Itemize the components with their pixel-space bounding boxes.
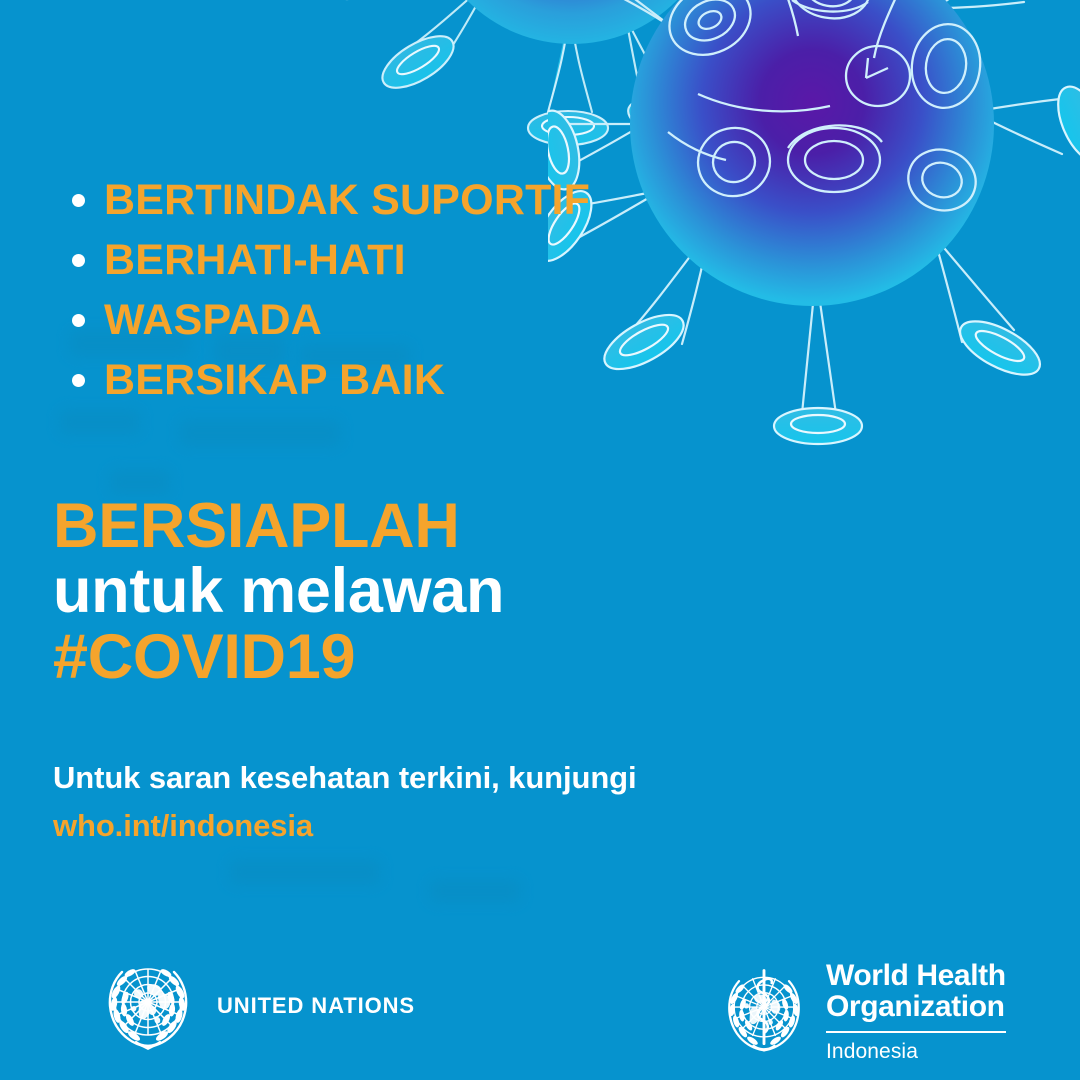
cta-url-link[interactable]: who.int/indonesia [53,806,637,846]
bullet-dot-icon [72,314,85,327]
bullet-dot-icon [72,194,85,207]
who-emblem-icon [714,957,814,1061]
united-nations-logo: UNITED NATIONS [96,954,415,1058]
headline-line-3: #COVID19 [53,626,504,688]
coronavirus-icon-main [548,0,1080,500]
list-item-label: WASPADA [104,299,322,342]
poster-canvas: BERTINDAK SUPORTIF BERHATI-HATI WASPADA … [0,0,1080,1080]
cta-lead-text: Untuk saran kesehatan terkini, kunjungi [53,758,637,798]
list-item-label: BERHATI-HATI [104,239,406,282]
headline-line-1: BERSIAPLAH [53,495,504,557]
united-nations-label: UNITED NATIONS [217,993,415,1019]
list-item: BERHATI-HATI [72,230,590,290]
bullet-dot-icon [72,374,85,387]
un-emblem-icon [96,954,200,1058]
watermark-blob [230,860,380,884]
watermark-blob [60,410,140,434]
who-divider [826,1031,1006,1033]
watermark-blob [180,420,340,446]
who-wordmark: World Health Organization Indonesia [826,961,1006,1064]
who-name-line-2: Organization [826,992,1006,1023]
list-item: WASPADA [72,290,590,350]
who-logo: World Health Organization Indonesia [714,957,1006,1064]
headline: BERSIAPLAH untuk melawan #COVID19 [53,495,504,691]
call-to-action: Untuk saran kesehatan terkini, kunjungi … [53,758,637,845]
watermark-blob [430,880,520,902]
list-item-label: BERSIKAP BAIK [104,359,445,402]
bullet-dot-icon [72,254,85,267]
list-item: BERTINDAK SUPORTIF [72,170,590,230]
headline-line-2: untuk melawan [53,560,504,622]
who-name-line-1: World Health [826,961,1006,992]
list-item-label: BERTINDAK SUPORTIF [104,179,590,222]
key-actions-list: BERTINDAK SUPORTIF BERHATI-HATI WASPADA … [72,170,590,410]
list-item: BERSIKAP BAIK [72,350,590,410]
who-country-label: Indonesia [826,1040,1006,1064]
